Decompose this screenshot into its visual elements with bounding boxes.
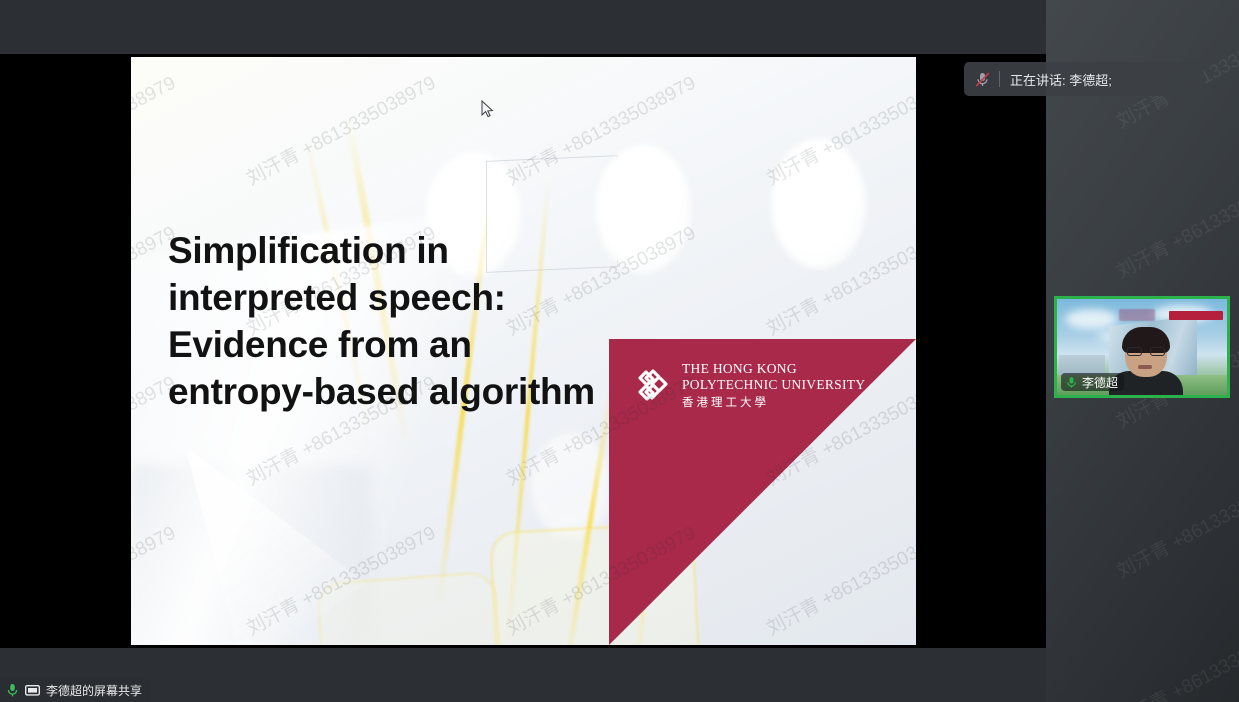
ceiling-light-icon [771,139,866,269]
slide-title: Simplification in interpreted speech: Ev… [168,227,598,415]
logo-line-chinese: 香港理工大學 [682,397,769,409]
participant-name: 李德超 [1082,374,1118,391]
window-bottom-chrome [0,648,1046,702]
polyu-logo-text: THE HONG KONG POLYTECHNIC UNIVERSITY 香港理… [682,361,865,410]
share-status-label: 李德超的屏幕共享 [46,682,142,699]
participant-video-tile[interactable]: 李德超 [1054,296,1230,398]
mic-on-icon [6,683,19,698]
brand-block: THE HONG KONG POLYTECHNIC UNIVERSITY 香港理… [609,339,916,645]
screen-share-icon [25,685,40,697]
mouse-cursor-icon [481,100,494,118]
speaking-label: 正在讲话: 李德超; [1010,70,1112,89]
participant-name-badge: 李德超 [1061,373,1124,391]
ceiling-light-icon [596,145,691,273]
background-logo-icon [1119,309,1155,321]
window-top-chrome [0,0,1046,54]
active-speaker-indicator[interactable]: 正在讲话: 李德超; [964,62,1204,96]
polyu-logo: THE HONG KONG POLYTECHNIC UNIVERSITY 香港理… [633,361,865,410]
zoom-meeting-window: Simplification in interpreted speech: Ev… [0,0,1239,702]
mouth-shape [1138,365,1152,369]
mic-on-icon [1065,376,1078,389]
divider [999,71,1000,87]
screen-share-status-pill[interactable]: 李德超的屏幕共享 [0,679,151,702]
glasses-icon [1127,347,1165,356]
shared-slide[interactable]: Simplification in interpreted speech: Ev… [131,57,916,645]
polyu-logo-icon [633,365,673,405]
logo-line-1: THE HONG KONG [682,361,797,376]
logo-line-2: POLYTECHNIC UNIVERSITY [682,377,865,392]
background-banner [1169,311,1223,320]
mic-muted-icon [974,71,991,88]
